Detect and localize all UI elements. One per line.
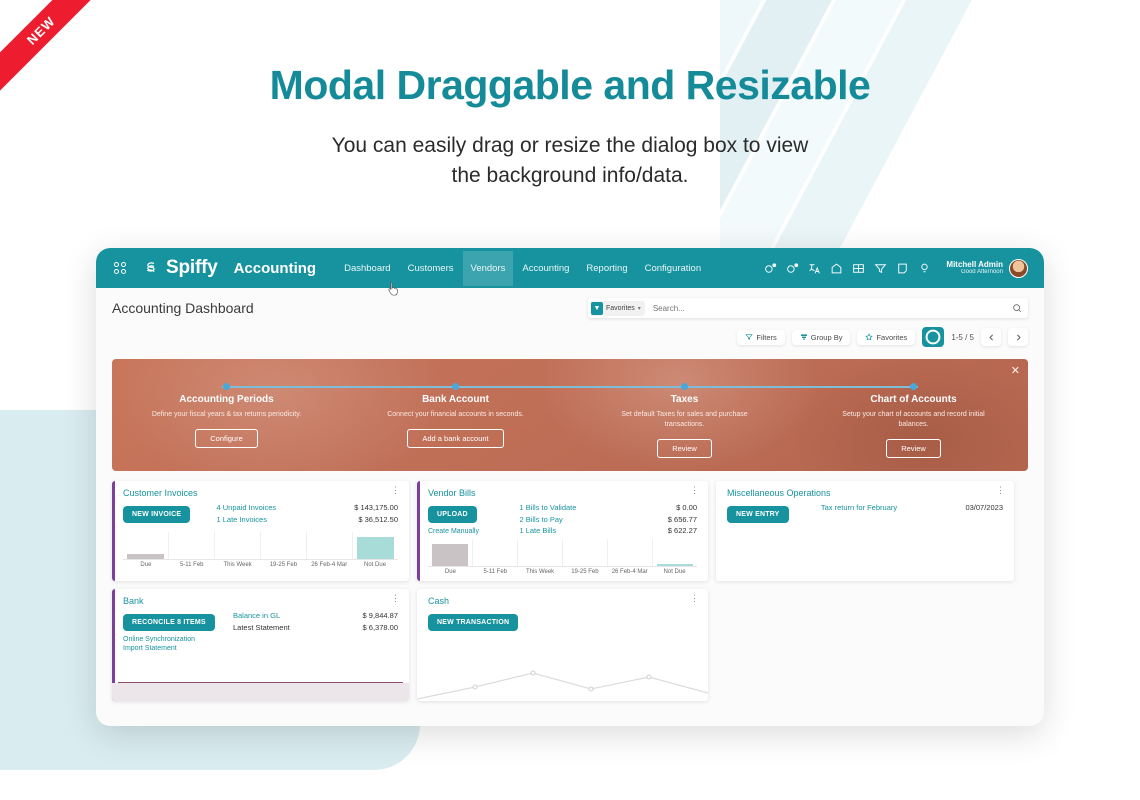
nav-item-accounting[interactable]: Accounting: [514, 251, 577, 286]
configure-button[interactable]: Configure: [195, 429, 258, 448]
axis-label: Due: [428, 569, 473, 575]
axis-label: 5-11 Feb: [473, 569, 518, 575]
kanban-view-icon: [922, 326, 944, 348]
card-title: Customer Invoices: [123, 488, 198, 498]
nav-item-reporting[interactable]: Reporting: [578, 251, 635, 286]
avatar[interactable]: [1009, 259, 1028, 278]
favorites-button[interactable]: Favorites: [857, 330, 915, 345]
control-panel-top-row: Accounting Dashboard ▼ Favorites ▾: [112, 298, 1028, 318]
stat-value: $ 622.27: [668, 526, 697, 535]
stat-row: 1 Bills to Validate $ 0.00: [519, 503, 697, 512]
stat-value: $ 36,512.50: [358, 515, 398, 524]
new-badge-ribbon: NEW: [0, 0, 96, 96]
onboarding-step-chart-of-accounts: Chart of Accounts Setup your chart of ac…: [799, 359, 1028, 471]
brand-name: Spiffy: [166, 257, 218, 279]
card-menu-kebab-icon[interactable]: ⋮: [391, 488, 400, 493]
brand[interactable]: Spiffy: [142, 257, 218, 279]
axis-label: 26 Feb-4 Mar: [306, 562, 352, 568]
step-dot: [681, 383, 688, 390]
stat-row: Balance in GL $ 9,844.87: [233, 611, 398, 620]
card-miscellaneous-operations: Miscellaneous Operations ⋮ NEW ENTRY Tax…: [716, 481, 1014, 581]
step-dot: [223, 383, 230, 390]
grid-icon[interactable]: [852, 262, 865, 275]
axis-label: 19-25 Feb: [562, 569, 607, 575]
new-entry-button[interactable]: NEW ENTRY: [727, 506, 789, 523]
online-synchronization-link[interactable]: Online Synchronization: [123, 636, 233, 643]
card-customer-invoices: Customer Invoices ⋮ NEW INVOICE 4 Unpaid…: [112, 481, 409, 581]
pager-count: 1-5 / 5: [951, 333, 974, 342]
step-description: Setup your chart of accounts and record …: [839, 410, 989, 430]
hero-section: Modal Draggable and Resizable You can ea…: [0, 0, 1140, 191]
card-title: Vendor Bills: [428, 488, 476, 498]
bar: [432, 544, 469, 566]
customer-invoices-bar-chart: Due 5-11 Feb This Week 19-25 Feb 26 Feb-…: [112, 532, 409, 572]
top-navbar: Spiffy Accounting Dashboard Customers Ve…: [96, 248, 1044, 288]
page-title: Modal Draggable and Resizable: [0, 62, 1140, 109]
step-description: Set default Taxes for sales and purchase…: [610, 410, 760, 430]
hero-subtitle: You can easily drag or resize the dialog…: [0, 131, 1140, 191]
messages-icon[interactable]: [764, 262, 777, 275]
card-menu-kebab-icon[interactable]: ⋮: [690, 596, 699, 601]
card-header: Miscellaneous Operations ⋮: [716, 481, 1014, 498]
dashboard-cards: Customer Invoices ⋮ NEW INVOICE 4 Unpaid…: [96, 471, 1044, 701]
stat-row: 2 Bills to Pay $ 656.77: [519, 515, 697, 524]
card-stats: Balance in GL $ 9,844.87 Latest Statemen…: [233, 611, 398, 652]
onboarding-banner: ✕ Accounting Periods Define your fiscal …: [112, 359, 1028, 471]
onboarding-step-bank-account: Bank Account Connect your financial acco…: [341, 359, 570, 471]
cash-line-chart: [417, 659, 708, 701]
mouse-cursor-icon: [388, 281, 400, 297]
create-manually-link[interactable]: Create Manually: [428, 528, 519, 535]
stat-label[interactable]: 2 Bills to Pay: [519, 515, 562, 524]
card-body: NEW INVOICE 4 Unpaid Invoices $ 143,175.…: [112, 498, 409, 526]
ribbon-band: NEW: [0, 0, 96, 93]
filter-icon[interactable]: [874, 262, 887, 275]
search-input[interactable]: [645, 304, 1012, 313]
filters-label: Filters: [756, 333, 776, 342]
stat-row: 1 Late Bills $ 622.27: [519, 526, 697, 535]
stat-row: Tax return for February 03/07/2023: [821, 503, 1003, 512]
app-window-screenshot: Spiffy Accounting Dashboard Customers Ve…: [96, 248, 1044, 726]
card-body: UPLOAD Create Manually 1 Bills to Valida…: [417, 498, 708, 538]
breadcrumb-title: Accounting Dashboard: [112, 300, 254, 316]
card-body: NEW ENTRY Tax return for February 03/07/…: [716, 498, 1014, 523]
import-statement-link[interactable]: Import Statement: [123, 645, 233, 652]
app-name: Accounting: [234, 260, 317, 277]
stat-row: Latest Statement $ 6,378.00: [233, 623, 398, 632]
stat-label[interactable]: Tax return for February: [821, 503, 897, 512]
facet-remove-icon[interactable]: ▾: [638, 305, 641, 312]
control-panel: Accounting Dashboard ▼ Favorites ▾ Filte…: [96, 288, 1044, 347]
stat-row: 1 Late Invoices $ 36,512.50: [217, 515, 399, 524]
onboarding-step-accounting-periods: Accounting Periods Define your fiscal ye…: [112, 359, 341, 471]
arrow-left-icon: [987, 333, 996, 342]
search-icon[interactable]: [1012, 303, 1022, 313]
ribbon-label: NEW: [24, 13, 58, 47]
stat-label[interactable]: Balance in GL: [233, 611, 280, 620]
step-dot: [910, 383, 917, 390]
group-icon: [800, 333, 808, 341]
card-row-2: Bank ⋮ RECONCILE 8 ITEMS Online Synchron…: [112, 589, 1028, 701]
step-description: Define your fiscal years & tax returns p…: [152, 410, 301, 420]
note-icon[interactable]: [896, 262, 909, 275]
user-greeting: Good Afternoon: [946, 269, 1003, 276]
chart-x-axis-labels: Due 5-11 Feb This Week 19-25 Feb 26 Feb-…: [428, 569, 697, 575]
card-header: Bank ⋮: [112, 589, 409, 606]
view-toggle-kanban-button[interactable]: [922, 327, 944, 347]
stat-label[interactable]: 4 Unpaid Invoices: [217, 503, 277, 512]
star-icon: [865, 333, 873, 341]
stat-label[interactable]: 1 Bills to Validate: [519, 503, 576, 512]
filters-button[interactable]: Filters: [737, 330, 784, 345]
step-title: Accounting Periods: [179, 394, 273, 405]
bar: [127, 554, 165, 559]
search-facet-label: Favorites: [606, 305, 635, 312]
apps-grid-icon[interactable]: [114, 262, 128, 274]
home-icon[interactable]: [830, 262, 843, 275]
card-actions: UPLOAD Create Manually: [428, 503, 519, 538]
review-taxes-button[interactable]: Review: [657, 439, 712, 458]
filter-icon: [745, 333, 753, 341]
step-title: Taxes: [671, 394, 699, 405]
user-text: Mitchell Admin Good Afternoon: [946, 260, 1003, 276]
card-menu-kebab-icon[interactable]: ⋮: [690, 488, 699, 493]
card-cash: Cash ⋮ NEW TRANSACTION: [417, 589, 708, 701]
axis-label: Due: [123, 562, 169, 568]
bar: [657, 564, 694, 566]
group-by-label: Group By: [811, 333, 843, 342]
stat-value: $ 9,844.87: [363, 611, 398, 620]
stat-value: $ 656.77: [668, 515, 697, 524]
bar: [357, 537, 395, 559]
card-body: RECONCILE 8 ITEMS Online Synchronization…: [112, 606, 409, 652]
card-title: Miscellaneous Operations: [727, 488, 831, 498]
nav-item-customers[interactable]: Customers: [400, 251, 462, 286]
nav-item-configuration[interactable]: Configuration: [637, 251, 710, 286]
step-dot: [452, 383, 459, 390]
card-actions: RECONCILE 8 ITEMS Online Synchronization…: [123, 611, 233, 652]
chart-bars: [428, 539, 697, 567]
step-title: Bank Account: [422, 394, 489, 405]
onboarding-step-taxes: Taxes Set default Taxes for sales and pu…: [570, 359, 799, 471]
axis-label: Not Due: [652, 569, 697, 575]
upload-button[interactable]: UPLOAD: [428, 506, 477, 523]
pager-next-button[interactable]: [1008, 328, 1028, 346]
add-bank-account-button[interactable]: Add a bank account: [407, 429, 503, 448]
control-panel-actions: Filters Group By Favorites 1-5 / 5: [112, 327, 1028, 347]
card-header: Vendor Bills ⋮: [417, 481, 708, 498]
card-vendor-bills: Vendor Bills ⋮ UPLOAD Create Manually 1 …: [417, 481, 708, 581]
card-title: Cash: [428, 596, 449, 606]
stat-label[interactable]: 1 Late Bills: [519, 526, 556, 535]
hero-subtitle-line2: the background info/data.: [0, 161, 1140, 191]
chart-bars: [123, 532, 398, 560]
step-description: Connect your financial accounts in secon…: [387, 410, 524, 420]
card-actions: NEW ENTRY: [727, 503, 821, 523]
stat-label: Latest Statement: [233, 623, 290, 632]
nav-item-vendors[interactable]: Vendors: [463, 251, 514, 286]
chart-x-axis-labels: Due 5-11 Feb This Week 19-25 Feb 26 Feb-…: [123, 562, 398, 568]
card-body: NEW TRANSACTION: [417, 606, 708, 631]
card-bank: Bank ⋮ RECONCILE 8 ITEMS Online Synchron…: [112, 589, 409, 701]
stat-value: 03/07/2023: [965, 503, 1003, 512]
card-actions: NEW TRANSACTION: [428, 611, 518, 631]
axis-label: Not Due: [352, 562, 398, 568]
card-header: Cash ⋮: [417, 589, 708, 606]
vendor-bills-bar-chart: Due 5-11 Feb This Week 19-25 Feb 26 Feb-…: [417, 539, 708, 579]
stat-value: $ 143,175.00: [354, 503, 398, 512]
step-title: Chart of Accounts: [870, 394, 956, 405]
new-transaction-button[interactable]: NEW TRANSACTION: [428, 614, 518, 631]
user-name: Mitchell Admin: [946, 260, 1003, 269]
search-bar[interactable]: ▼ Favorites ▾: [588, 298, 1028, 318]
stat-value: $ 0.00: [676, 503, 697, 512]
stat-row: 4 Unpaid Invoices $ 143,175.00: [217, 503, 399, 512]
bank-chart-area: [112, 683, 409, 701]
tips-icon[interactable]: [918, 262, 931, 275]
card-header: Customer Invoices ⋮: [112, 481, 409, 498]
navbar-right-icons: Mitchell Admin Good Afternoon: [764, 259, 1034, 278]
card-row-1: Customer Invoices ⋮ NEW INVOICE 4 Unpaid…: [112, 481, 1028, 581]
onboarding-steps: Accounting Periods Define your fiscal ye…: [112, 359, 1028, 471]
new-invoice-button[interactable]: NEW INVOICE: [123, 506, 190, 523]
stat-label[interactable]: 1 Late Invoices: [217, 515, 267, 524]
card-stats: 4 Unpaid Invoices $ 143,175.00 1 Late In…: [217, 503, 399, 526]
axis-label: 26 Feb-4 Mar: [607, 569, 652, 575]
arrow-right-icon: [1014, 333, 1023, 342]
stat-value: $ 6,378.00: [363, 623, 398, 632]
axis-label: This Week: [215, 562, 261, 568]
axis-label: 5-11 Feb: [169, 562, 215, 568]
translate-icon[interactable]: [808, 262, 821, 275]
hero-subtitle-line1: You can easily drag or resize the dialog…: [0, 131, 1140, 161]
user-menu[interactable]: Mitchell Admin Good Afternoon: [946, 259, 1028, 278]
card-menu-kebab-icon[interactable]: ⋮: [996, 488, 1005, 493]
axis-label: 19-25 Feb: [260, 562, 306, 568]
search-facet-favorites[interactable]: ▼ Favorites ▾: [590, 301, 645, 316]
card-title: Bank: [123, 596, 144, 606]
favorites-label: Favorites: [876, 333, 907, 342]
card-stats: 1 Bills to Validate $ 0.00 2 Bills to Pa…: [519, 503, 697, 538]
axis-label: This Week: [518, 569, 563, 575]
card-stats: Tax return for February 03/07/2023: [821, 503, 1003, 523]
review-coa-button[interactable]: Review: [886, 439, 941, 458]
card-menu-kebab-icon[interactable]: ⋮: [391, 596, 400, 601]
reconcile-items-button[interactable]: RECONCILE 8 ITEMS: [123, 614, 215, 631]
group-by-button[interactable]: Group By: [792, 330, 851, 345]
spiffy-logo-icon: [142, 259, 160, 277]
filter-facet-icon: ▼: [591, 302, 603, 315]
card-actions: NEW INVOICE: [123, 503, 217, 526]
pager-prev-button[interactable]: [981, 328, 1001, 346]
activities-icon[interactable]: [786, 262, 799, 275]
